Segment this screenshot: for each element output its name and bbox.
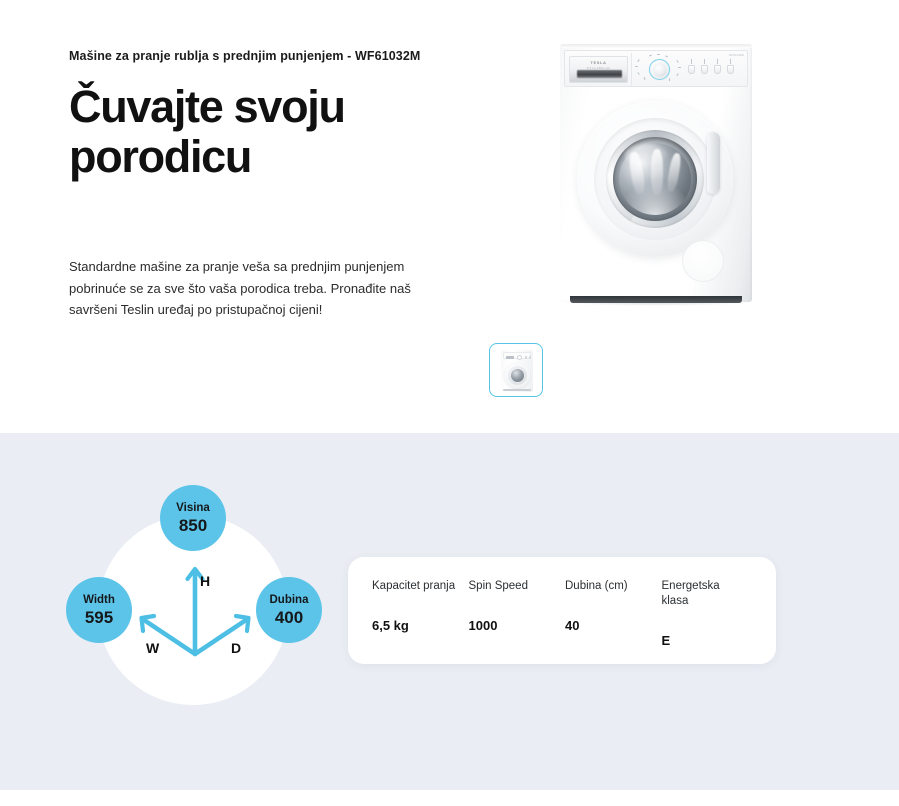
model-marking: WF61032M	[729, 54, 744, 57]
thumb-button-icon	[525, 356, 527, 359]
gallery-thumbnail-1[interactable]	[489, 343, 543, 397]
spec-column-energy-class: Energetska klasa E	[662, 579, 759, 648]
detergent-drawer-icon: TESLA 6,5 kg 1000 rpm	[569, 56, 628, 83]
spec-value: 6,5 kg	[372, 618, 469, 633]
thumb-drawer-icon	[506, 356, 514, 359]
bubble-label: Visina	[176, 501, 210, 515]
dial-tick-icon	[649, 54, 652, 56]
dimension-bubble-width: Width 595	[66, 577, 132, 643]
program-dial-area	[635, 54, 683, 85]
hero-description: Standardne mašine za pranje veša sa pred…	[69, 256, 414, 321]
spec-value: 1000	[469, 618, 566, 633]
product-image: TESLA 6,5 kg 1000 rpm	[560, 44, 752, 308]
button-indicator-icon	[691, 59, 692, 64]
product-page: Mašine za pranje rublja s prednjim punje…	[0, 0, 899, 806]
button-indicator-icon	[717, 59, 718, 64]
spec-label: Kapacitet pranja	[372, 579, 458, 594]
panel-button-icon	[727, 65, 734, 74]
dial-tick-icon	[665, 55, 668, 57]
bubble-label: Dubina	[270, 593, 309, 607]
button-indicator-icon	[730, 59, 731, 64]
thumb-door-bezel	[504, 362, 530, 388]
door-handle	[707, 132, 720, 194]
control-panel: TESLA 6,5 kg 1000 rpm	[564, 50, 748, 87]
dial-tick-icon	[635, 66, 638, 67]
cabinet-top-edge	[560, 44, 752, 48]
thumbnail-image	[501, 350, 533, 392]
specifications-card: Kapacitet pranja 6,5 kg Spin Speed 1000 …	[348, 557, 776, 664]
thumb-button-icon	[529, 356, 531, 359]
brand-logo-text: TESLA	[570, 60, 627, 65]
hero-section: Mašine za pranje rublja s prednjim punje…	[0, 0, 899, 433]
panel-divider	[631, 53, 632, 86]
filter-access-cover	[682, 240, 724, 282]
glass-reflection	[625, 144, 667, 166]
spec-columns: Kapacitet pranja 6,5 kg Spin Speed 1000 …	[372, 579, 758, 648]
spec-column-spin-speed: Spin Speed 1000	[469, 579, 566, 648]
dimension-bubble-depth: Dubina 400	[256, 577, 322, 643]
dial-tick-icon	[644, 77, 646, 80]
bubble-value: 850	[179, 516, 207, 536]
door-inner-bezel	[594, 118, 716, 240]
spec-column-depth: Dubina (cm) 40	[565, 579, 662, 648]
bubble-label: Width	[83, 593, 115, 607]
button-indicator-icon	[704, 59, 705, 64]
hero-copy: Mašine za pranje rublja s prednjim punje…	[69, 48, 429, 182]
dimension-bubble-height: Visina 850	[160, 485, 226, 551]
panel-button-icon	[688, 65, 695, 74]
axis-label-width: W	[146, 641, 159, 655]
product-shadow	[564, 302, 748, 306]
axis-label-height: H	[200, 574, 210, 588]
dial-tick-icon	[637, 59, 640, 62]
door-metal-rim	[606, 130, 704, 228]
drum-paddle	[666, 152, 683, 192]
spec-value: 40	[565, 618, 662, 633]
panel-button-icon	[701, 65, 708, 74]
thumb-dial-icon	[517, 355, 522, 360]
door-glass	[613, 137, 697, 221]
spec-label: Energetska klasa	[662, 579, 748, 609]
dial-tick-icon	[676, 73, 679, 76]
spec-value: E	[662, 633, 759, 648]
drawer-handle	[577, 70, 622, 78]
thumb-door-inner	[508, 366, 527, 385]
program-dial-knob-icon	[654, 64, 666, 76]
dial-tick-icon	[678, 67, 681, 68]
spec-label: Spin Speed	[469, 579, 555, 594]
spec-label: Dubina (cm)	[565, 579, 651, 594]
dial-tick-icon	[676, 60, 679, 63]
spec-column-capacity: Kapacitet pranja 6,5 kg	[372, 579, 469, 648]
thumb-door-glass	[511, 369, 524, 382]
thumb-plinth	[503, 389, 531, 391]
page-title: Čuvajte svoju porodicu	[69, 82, 429, 182]
page-bottom-strip	[0, 790, 899, 806]
thumb-control-panel	[503, 352, 531, 359]
bubble-value: 400	[275, 608, 303, 628]
panel-buttons	[687, 59, 743, 81]
dial-tick-icon	[669, 78, 671, 81]
product-category-label: Mašine za pranje rublja s prednjim punje…	[69, 48, 429, 64]
panel-button-icon	[714, 65, 721, 74]
dial-tick-icon	[657, 54, 660, 55]
axis-label-depth: D	[231, 641, 241, 655]
dial-tick-icon	[637, 72, 640, 75]
bubble-value: 595	[85, 608, 113, 628]
washing-machine-cabinet: TESLA 6,5 kg 1000 rpm	[560, 44, 752, 302]
